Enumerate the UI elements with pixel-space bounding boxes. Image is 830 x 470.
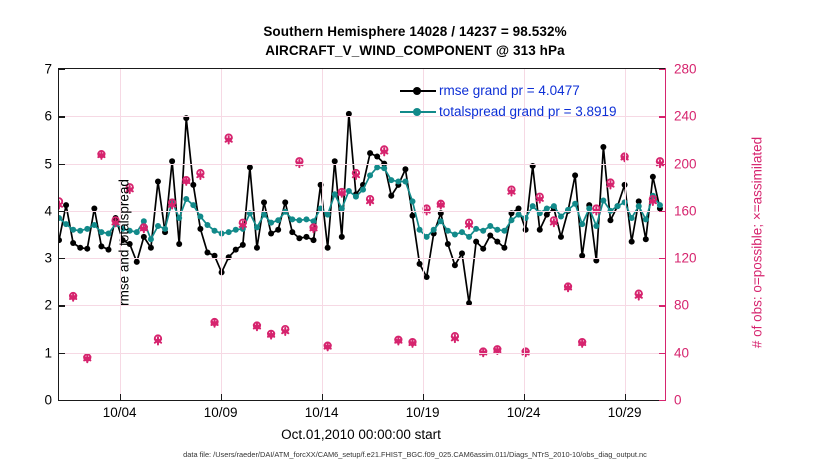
tick-left	[59, 116, 65, 117]
right-axis-tick-label: 120	[674, 251, 718, 266]
legend-item-totalspread: totalspread grand pr = 3.8919	[400, 101, 617, 122]
bottom-axis-tick-label: 10/24	[507, 405, 541, 420]
tick-bottom	[221, 394, 222, 400]
series-marker-rmse	[289, 229, 295, 235]
gridline-vertical	[221, 69, 222, 400]
series-marker-totalspread	[438, 218, 444, 224]
series-marker-rmse	[402, 166, 408, 172]
series-marker-rmse	[254, 245, 260, 251]
series-marker-rmse	[197, 226, 203, 232]
series-marker-rmse	[572, 172, 578, 178]
right-axis-tick-label: 80	[674, 298, 718, 313]
series-marker-rmse	[275, 227, 281, 233]
series-marker-totalspread	[261, 212, 267, 218]
series-marker-rmse	[233, 247, 239, 253]
series-marker-totalspread	[254, 224, 260, 230]
series-marker-rmse	[204, 249, 210, 255]
series-marker-rmse	[643, 236, 649, 242]
tick-right	[659, 164, 665, 165]
tick-left	[59, 164, 65, 165]
series-marker-rmse	[325, 245, 331, 251]
series-marker-rmse	[558, 234, 564, 240]
chart-title: Southern Hemisphere 14028 / 14237 = 98.5…	[0, 22, 830, 60]
series-marker-totalspread	[212, 228, 218, 234]
series-marker-totalspread	[134, 229, 140, 235]
series-marker-rmse	[388, 193, 394, 199]
gridline-vertical	[322, 69, 323, 400]
series-marker-rmse	[311, 237, 317, 243]
legend-item-rmse: rmse grand pr = 4.0477	[400, 80, 617, 101]
series-marker-rmse	[261, 199, 267, 205]
series-marker-rmse	[98, 243, 104, 249]
legend-label: rmse grand pr = 4.0477	[439, 83, 580, 98]
series-marker-rmse	[410, 213, 416, 219]
data-file-footer: data file: /Users/raeder/DAI/ATM_forcXX/…	[0, 450, 830, 459]
series-marker-totalspread	[219, 231, 225, 237]
series-marker-totalspread	[452, 232, 458, 238]
right-axis-tick-label: 160	[674, 203, 718, 218]
series-marker-rmse	[155, 179, 161, 185]
series-marker-rmse	[70, 240, 76, 246]
series-marker-rmse	[459, 250, 465, 256]
series-marker-rmse	[607, 217, 613, 223]
series-marker-totalspread	[579, 221, 585, 227]
tick-right	[659, 305, 665, 306]
series-marker-rmse	[494, 239, 500, 245]
tick-left	[59, 69, 65, 70]
bottom-axis-title: Oct.01,2010 00:00:00 start	[0, 427, 722, 442]
right-axis-tick-label: 240	[674, 109, 718, 124]
series-marker-totalspread	[629, 215, 635, 221]
series-marker-totalspread	[148, 236, 154, 242]
series-marker-totalspread	[63, 221, 69, 227]
series-marker-totalspread	[388, 177, 394, 183]
series-marker-rmse	[650, 174, 656, 180]
series-marker-rmse	[445, 241, 451, 247]
series-marker-rmse	[176, 241, 182, 247]
series-marker-totalspread	[424, 234, 430, 240]
series-marker-rmse	[219, 269, 225, 275]
right-axis-spine	[665, 68, 667, 402]
series-marker-totalspread	[176, 215, 182, 221]
left-axis-tick-label: 3	[12, 251, 52, 266]
tick-right	[659, 211, 665, 212]
series-marker-rmse	[77, 245, 83, 251]
tick-left	[59, 211, 65, 212]
left-axis-title: rmse and totalspread	[117, 113, 132, 373]
legend: rmse grand pr = 4.0477totalspread grand …	[396, 78, 621, 124]
series-marker-rmse	[303, 234, 309, 240]
series-marker-totalspread	[190, 202, 196, 208]
right-axis-tick-label: 40	[674, 345, 718, 360]
left-axis-tick-label: 4	[12, 203, 52, 218]
series-marker-rmse	[424, 274, 430, 280]
left-axis-tick-label: 2	[12, 298, 52, 313]
series-marker-rmse	[59, 237, 62, 243]
series-marker-rmse	[282, 199, 288, 205]
series-marker-rmse	[148, 245, 154, 251]
tick-bottom	[423, 394, 424, 400]
right-axis-title: # of obs: o=possible; ×=assimilated	[750, 98, 765, 388]
series-marker-totalspread	[105, 231, 111, 237]
tick-left	[59, 400, 65, 401]
right-axis-tick-label: 280	[674, 62, 718, 77]
series-marker-rmse	[318, 182, 324, 188]
right-axis-tick-label: 0	[674, 393, 718, 408]
chart-title-line2: AIRCRAFT_V_WIND_COMPONENT @ 313 hPa	[0, 41, 830, 60]
series-marker-totalspread	[395, 179, 401, 185]
series-marker-totalspread	[636, 203, 642, 209]
tick-right	[659, 69, 665, 70]
gridline-horizontal	[59, 305, 665, 306]
series-marker-rmse	[268, 231, 274, 237]
series-marker-totalspread	[431, 227, 437, 233]
series-marker-totalspread	[233, 227, 239, 233]
series-marker-totalspread	[353, 194, 359, 200]
series-marker-totalspread	[325, 212, 331, 218]
series-marker-totalspread	[480, 228, 486, 234]
series-marker-rmse	[600, 144, 606, 150]
tick-left	[59, 353, 65, 354]
tick-right	[659, 258, 665, 259]
series-marker-totalspread	[445, 228, 451, 234]
series-marker-totalspread	[183, 196, 189, 202]
series-marker-totalspread	[275, 217, 281, 223]
legend-label: totalspread grand pr = 3.8919	[439, 104, 617, 119]
series-marker-rmse	[339, 234, 345, 240]
series-marker-totalspread	[303, 216, 309, 222]
series-marker-totalspread	[657, 202, 663, 208]
series-marker-rmse	[247, 164, 253, 170]
series-marker-totalspread	[410, 198, 416, 204]
series-marker-totalspread	[508, 217, 514, 223]
series-marker-totalspread	[98, 229, 104, 235]
series-marker-totalspread	[459, 229, 465, 235]
series-marker-totalspread	[296, 217, 302, 223]
series-rmse	[59, 111, 663, 306]
series-marker-totalspread	[367, 172, 373, 178]
tick-bottom	[524, 394, 525, 400]
series-marker-totalspread	[360, 187, 366, 193]
series-marker-totalspread	[381, 165, 387, 171]
series-marker-totalspread	[77, 228, 83, 234]
tick-left	[59, 305, 65, 306]
bottom-axis-tick-label: 10/14	[305, 405, 339, 420]
bottom-axis-tick-label: 10/04	[103, 405, 137, 420]
series-marker-totalspread	[204, 222, 210, 228]
tick-right	[659, 353, 665, 354]
series-marker-totalspread	[197, 214, 203, 220]
series-marker-totalspread	[494, 227, 500, 233]
series-marker-rmse	[629, 239, 635, 245]
series-marker-rmse	[374, 153, 380, 159]
series-marker-rmse	[296, 235, 302, 241]
tick-bottom	[625, 394, 626, 400]
series-marker-rmse	[480, 246, 486, 252]
series-marker-rmse	[544, 212, 550, 218]
series-marker-totalspread	[402, 179, 408, 185]
series-marker-totalspread	[551, 203, 557, 209]
right-axis-tick-label: 200	[674, 156, 718, 171]
series-marker-totalspread	[600, 197, 606, 203]
series-marker-totalspread	[374, 164, 380, 170]
series-marker-rmse	[141, 234, 147, 240]
series-marker-rmse	[190, 182, 196, 188]
gridline-horizontal	[59, 258, 665, 259]
series-marker-rmse	[63, 202, 69, 208]
series-marker-totalspread	[466, 234, 472, 240]
series-marker-totalspread	[530, 203, 536, 209]
series-marker-totalspread	[346, 188, 352, 194]
series-marker-totalspread	[70, 227, 76, 233]
series-marker-totalspread	[289, 216, 295, 222]
left-axis-tick-label: 6	[12, 109, 52, 124]
legend-marker-icon	[400, 85, 436, 97]
bottom-axis-tick-label: 10/09	[204, 405, 238, 420]
gridline-horizontal	[59, 211, 665, 212]
series-marker-rmse	[240, 242, 246, 248]
series-marker-rmse	[105, 247, 111, 253]
series-marker-totalspread	[501, 228, 507, 234]
series-marker-rmse	[452, 262, 458, 268]
gridline-horizontal	[59, 164, 665, 165]
series-marker-totalspread	[643, 216, 649, 222]
left-axis-tick-label: 0	[12, 393, 52, 408]
bottom-axis-tick-label: 10/29	[608, 405, 642, 420]
series-marker-totalspread	[84, 226, 90, 232]
left-axis-tick-label: 1	[12, 345, 52, 360]
tick-left	[59, 258, 65, 259]
legend-marker-icon	[400, 106, 436, 118]
series-marker-totalspread	[155, 223, 161, 229]
series-marker-rmse	[367, 150, 373, 156]
chart-title-line1: Southern Hemisphere 14028 / 14237 = 98.5…	[0, 22, 830, 41]
series-marker-rmse	[487, 232, 493, 238]
series-marker-totalspread	[268, 220, 274, 226]
series-marker-totalspread	[615, 203, 621, 209]
tick-right	[659, 116, 665, 117]
bottom-axis-tick-label: 10/19	[406, 405, 440, 420]
series-marker-totalspread	[332, 191, 338, 197]
tick-right	[659, 400, 665, 401]
tick-bottom	[120, 394, 121, 400]
series-marker-rmse	[501, 245, 507, 251]
series-marker-rmse	[134, 259, 140, 265]
figure-root: Southern Hemisphere 14028 / 14237 = 98.5…	[0, 0, 830, 470]
series-marker-totalspread	[91, 222, 97, 228]
obs-assimilated-marker	[59, 201, 62, 208]
series-marker-totalspread	[162, 226, 168, 232]
series-marker-totalspread	[558, 214, 564, 220]
series-marker-totalspread	[487, 223, 493, 229]
series-marker-totalspread	[593, 223, 599, 229]
gridline-vertical	[625, 69, 626, 400]
left-axis-tick-label: 7	[12, 62, 52, 77]
tick-bottom	[322, 394, 323, 400]
left-axis-tick-label: 5	[12, 156, 52, 171]
series-marker-totalspread	[572, 201, 578, 207]
gridline-horizontal	[59, 353, 665, 354]
series-marker-totalspread	[473, 226, 479, 232]
series-marker-rmse	[84, 246, 90, 252]
series-marker-totalspread	[226, 229, 232, 235]
series-marker-rmse	[473, 239, 479, 245]
series-marker-rmse	[537, 227, 543, 233]
series-marker-totalspread	[516, 212, 522, 218]
